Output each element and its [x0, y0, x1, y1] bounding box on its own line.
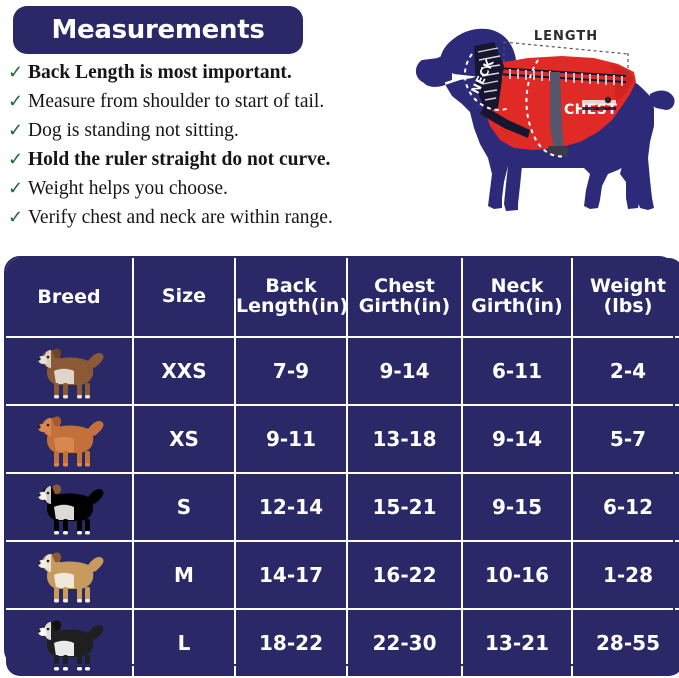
measurements-title-badge: Measurements [13, 6, 303, 54]
back-length-cell: 12-14 [236, 474, 346, 540]
column-header-back-length: Back Length(in) [236, 258, 346, 336]
back-length-cell: 7-9 [236, 338, 346, 404]
neck-girth-cell: 13-21 [463, 610, 571, 676]
column-header-breed: Breed [6, 258, 132, 336]
list-item: ✓ Verify chest and neck are within range… [8, 207, 408, 236]
border-collie-photo [30, 613, 108, 673]
instruction-text: Verify chest and neck are within range. [28, 207, 333, 229]
size-cell: XXS [134, 338, 234, 404]
weight-cell: 2-4 [573, 338, 679, 404]
check-icon: ✓ [8, 121, 28, 139]
length-label: LENGTH [534, 29, 598, 44]
column-header-chest-girth-line2: Girth(in) [348, 297, 461, 317]
chest-girth-cell: 16-22 [348, 542, 461, 608]
breed-cell [6, 338, 132, 404]
dog-harness-illustration: LENGTH NECK CHEST [412, 8, 677, 246]
chest-girth-cell: 13-18 [348, 406, 461, 472]
back-length-cell: 14-17 [236, 542, 346, 608]
neck-girth-cell: 6-11 [463, 338, 571, 404]
size-chart-table: Breed Size Back Length(in) Chest Girth(i… [4, 256, 675, 666]
breed-cell [6, 406, 132, 472]
beagle-photo [30, 545, 108, 605]
column-header-neck-girth: Neck Girth(in) [463, 258, 571, 336]
weight-cell: 28-55 [573, 610, 679, 676]
breed-cell [6, 610, 132, 676]
list-item: ✓ Back Length is most important. [8, 62, 408, 91]
column-header-chest-girth: Chest Girth(in) [348, 258, 461, 336]
breed-cell [6, 474, 132, 540]
table-row: L18-2222-3013-2128-55 [6, 610, 679, 676]
list-item: ✓ Measure from shoulder to start of tail… [8, 91, 408, 120]
neck-girth-cell: 9-15 [463, 474, 571, 540]
poodle-photo [30, 409, 108, 469]
check-icon: ✓ [8, 63, 28, 81]
table-row: M14-1716-2210-161-28 [6, 542, 679, 608]
table-row: S12-1415-219-156-12 [6, 474, 679, 540]
check-icon: ✓ [8, 92, 28, 110]
instructions-list: ✓ Back Length is most important. ✓ Measu… [8, 62, 408, 236]
table-body: XXS7-99-146-112-4 XS9-1113-189-145-7 [6, 338, 679, 676]
table-row: XS9-1113-189-145-7 [6, 406, 679, 472]
size-cell: XS [134, 406, 234, 472]
size-cell: M [134, 542, 234, 608]
column-header-size: Size [134, 258, 234, 336]
jack-russell-terrier-photo [30, 477, 108, 537]
table-header-row: Breed Size Back Length(in) Chest Girth(i… [6, 258, 679, 336]
instruction-text: Dog is standing not sitting. [28, 120, 239, 142]
chest-girth-cell: 15-21 [348, 474, 461, 540]
chest-girth-cell: 22-30 [348, 610, 461, 676]
back-length-cell: 18-22 [236, 610, 346, 676]
instruction-text: Back Length is most important. [28, 62, 292, 84]
size-cell: S [134, 474, 234, 540]
instruction-text: Weight helps you choose. [28, 178, 228, 200]
weight-cell: 5-7 [573, 406, 679, 472]
list-item: ✓ Hold the ruler straight do not curve. [8, 149, 408, 178]
column-header-back-length-line2: Length(in) [236, 297, 346, 317]
table-row: XXS7-99-146-112-4 [6, 338, 679, 404]
weight-cell: 6-12 [573, 474, 679, 540]
chest-girth-cell: 9-14 [348, 338, 461, 404]
list-item: ✓ Dog is standing not sitting. [8, 120, 408, 149]
check-icon: ✓ [8, 179, 28, 197]
column-header-weight: Weight (lbs) [573, 258, 679, 336]
breed-cell [6, 542, 132, 608]
check-icon: ✓ [8, 150, 28, 168]
instruction-text: Measure from shoulder to start of tail. [28, 91, 324, 113]
size-cell: L [134, 610, 234, 676]
weight-cell: 1-28 [573, 542, 679, 608]
neck-girth-cell: 10-16 [463, 542, 571, 608]
column-header-weight-line2: (lbs) [573, 297, 679, 317]
back-length-cell: 9-11 [236, 406, 346, 472]
instruction-text: Hold the ruler straight do not curve. [28, 149, 330, 171]
column-header-neck-girth-line2: Girth(in) [463, 297, 571, 317]
neck-girth-cell: 9-14 [463, 406, 571, 472]
list-item: ✓ Weight helps you choose. [8, 178, 408, 207]
check-icon: ✓ [8, 208, 28, 226]
page-title: Measurements [51, 15, 264, 45]
chihuahua-photo [30, 341, 108, 401]
